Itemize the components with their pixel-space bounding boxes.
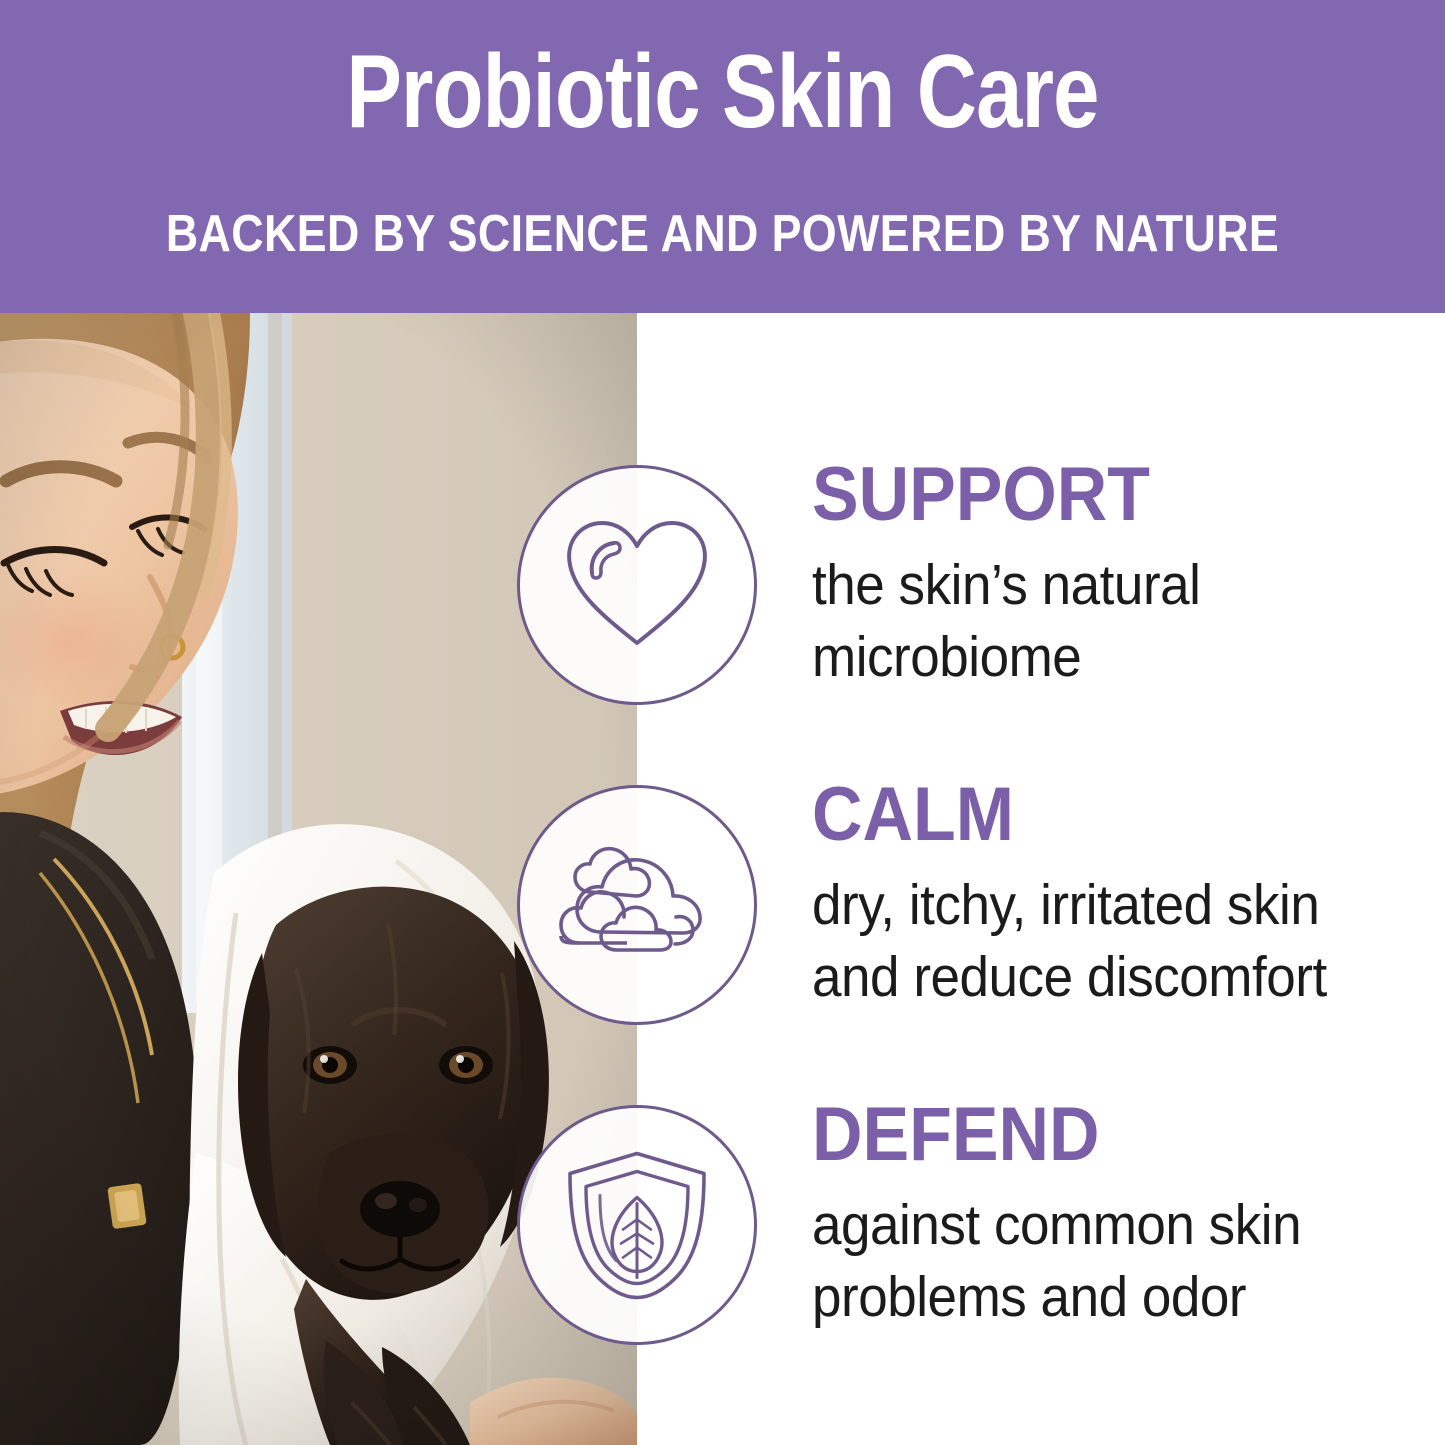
page-subtitle: BACKED BY SCIENCE AND POWERED BY NATURE xyxy=(101,205,1344,263)
feature-support-text: SUPPORT the skin’s natural microbiome xyxy=(812,455,1412,693)
feature-support-title: SUPPORT xyxy=(812,455,1364,535)
feature-defend-text: DEFEND against common skin problems and … xyxy=(812,1095,1412,1333)
infographic-page: Probiotic Skin Care BACKED BY SCIENCE AN… xyxy=(0,0,1445,1445)
feature-calm-title: CALM xyxy=(812,775,1364,855)
feature-support: SUPPORT the skin’s natural microbiome xyxy=(0,435,1445,735)
feature-calm-description: dry, itchy, irritated skin and reduce di… xyxy=(812,869,1370,1013)
feature-defend-title: DEFEND xyxy=(812,1095,1364,1175)
clouds-icon xyxy=(517,785,757,1025)
page-title: Probiotic Skin Care xyxy=(145,36,1301,148)
heart-icon xyxy=(517,465,757,705)
feature-support-description: the skin’s natural microbiome xyxy=(812,549,1370,693)
feature-calm-text: CALM dry, itchy, irritated skin and redu… xyxy=(812,775,1412,1013)
feature-defend: DEFEND against common skin problems and … xyxy=(0,1075,1445,1375)
feature-defend-description: against common skin problems and odor xyxy=(812,1189,1370,1333)
feature-calm: CALM dry, itchy, irritated skin and redu… xyxy=(0,755,1445,1055)
header-banner: Probiotic Skin Care BACKED BY SCIENCE AN… xyxy=(0,0,1445,313)
shield-leaf-icon xyxy=(517,1105,757,1345)
